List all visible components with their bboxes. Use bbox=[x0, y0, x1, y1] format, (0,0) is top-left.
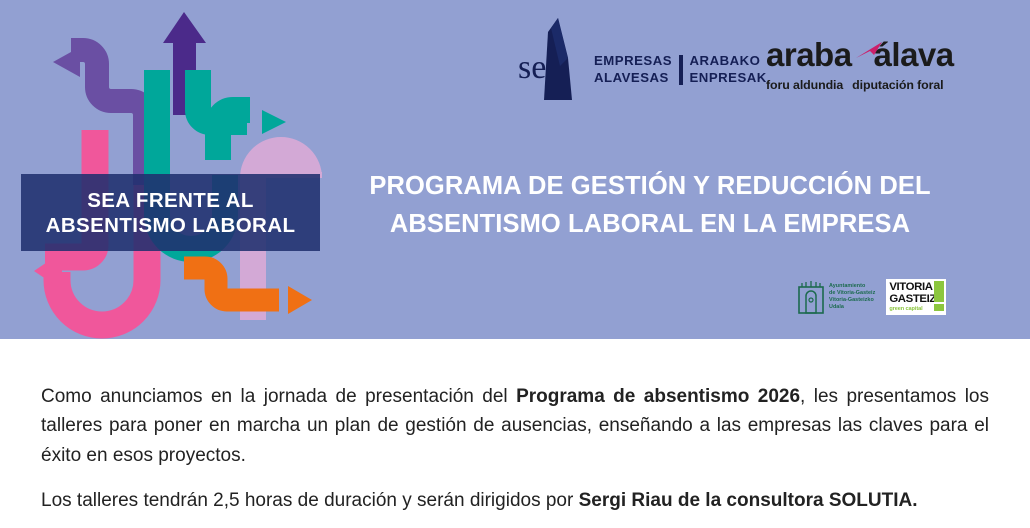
arrows-illustration bbox=[0, 0, 340, 339]
araba-sub-left: foru aldundia bbox=[766, 79, 843, 91]
p1-bold1: Programa de absentismo 2026 bbox=[516, 386, 800, 407]
title-line-1: PROGRAMA DE GESTIÓN Y REDUCCIÓN DEL bbox=[340, 168, 960, 206]
green-capital-logo[interactable]: VITORIA GASTEIZ green capital bbox=[886, 279, 946, 315]
vitoria-crest-icon bbox=[798, 280, 824, 314]
sea-a-mark-icon: se bbox=[518, 18, 600, 100]
page-title: PROGRAMA DE GESTIÓN Y REDUCCIÓN DEL ABSE… bbox=[340, 168, 960, 243]
gc-line-2: GASTEIZ bbox=[889, 293, 936, 305]
araba-check-arrow-icon bbox=[856, 42, 886, 62]
body-content: Como anunciamos en la jornada de present… bbox=[0, 339, 1030, 528]
gc-line-1: VITORIA bbox=[889, 281, 936, 293]
araba-logo-wordmark: araba álava bbox=[766, 38, 966, 74]
campaign-banner: SEA FRENTE AL ABSENTISMO LABORAL bbox=[21, 174, 320, 251]
ayto-line-2: de Vitoria-Gasteiz bbox=[829, 290, 875, 297]
ayto-line-1: Ayuntamiento bbox=[829, 283, 875, 290]
header-band: SEA FRENTE AL ABSENTISMO LABORAL se EMPR… bbox=[0, 0, 1030, 339]
sea-logo-divider bbox=[679, 55, 683, 85]
araba-logo-subtitle: foru aldundia diputación foral bbox=[766, 79, 966, 91]
sea-col-b-line2: ENPRESAK bbox=[690, 70, 767, 87]
araba-word-left: araba bbox=[766, 38, 852, 71]
paragraph-1: Como anunciamos en la jornada de present… bbox=[41, 382, 989, 470]
banner-line-2: ABSENTISMO LABORAL bbox=[46, 214, 296, 238]
p2-seg1: Los talleres tendrán 2,5 horas de duraci… bbox=[41, 490, 579, 511]
sea-logo-text: EMPRESAS ALAVESAS ARABAKO ENPRESAK bbox=[594, 53, 767, 87]
vitoria-gasteiz-logos[interactable]: Ayuntamiento de Vitoria-Gasteiz Vitoria-… bbox=[798, 278, 946, 316]
sea-col-b-line1: ARABAKO bbox=[690, 53, 767, 70]
ayto-line-3: Vitoria-Gasteizko bbox=[829, 297, 875, 304]
poster-page: SEA FRENTE AL ABSENTISMO LABORAL se EMPR… bbox=[0, 0, 1030, 528]
araba-sub-right: diputación foral bbox=[852, 79, 943, 91]
banner-line-1: SEA FRENTE AL bbox=[87, 189, 254, 213]
araba-alava-logo[interactable]: araba álava foru aldundia diputación for… bbox=[766, 38, 966, 98]
p2-bold1: Sergi Riau de la consultora SOLUTIA. bbox=[579, 490, 918, 511]
sea-logo[interactable]: se EMPRESAS ALAVESAS ARABAKO ENPRESAK bbox=[518, 18, 738, 100]
ayto-line-4: Udala bbox=[829, 304, 875, 311]
sea-col-a-line2: ALAVESAS bbox=[594, 70, 672, 87]
p1-seg1: Como anunciamos en la jornada de present… bbox=[41, 386, 516, 407]
svg-text:se: se bbox=[518, 49, 546, 86]
sea-col-a-line1: EMPRESAS bbox=[594, 53, 672, 70]
title-line-2: ABSENTISMO LABORAL EN LA EMPRESA bbox=[340, 206, 960, 244]
gc-line-3: green capital bbox=[889, 306, 936, 313]
green-capital-bars-icon bbox=[934, 281, 944, 313]
vitoria-ayuntamiento-text: Ayuntamiento de Vitoria-Gasteiz Vitoria-… bbox=[829, 283, 875, 312]
paragraph-2: Los talleres tendrán 2,5 horas de duraci… bbox=[41, 486, 989, 515]
